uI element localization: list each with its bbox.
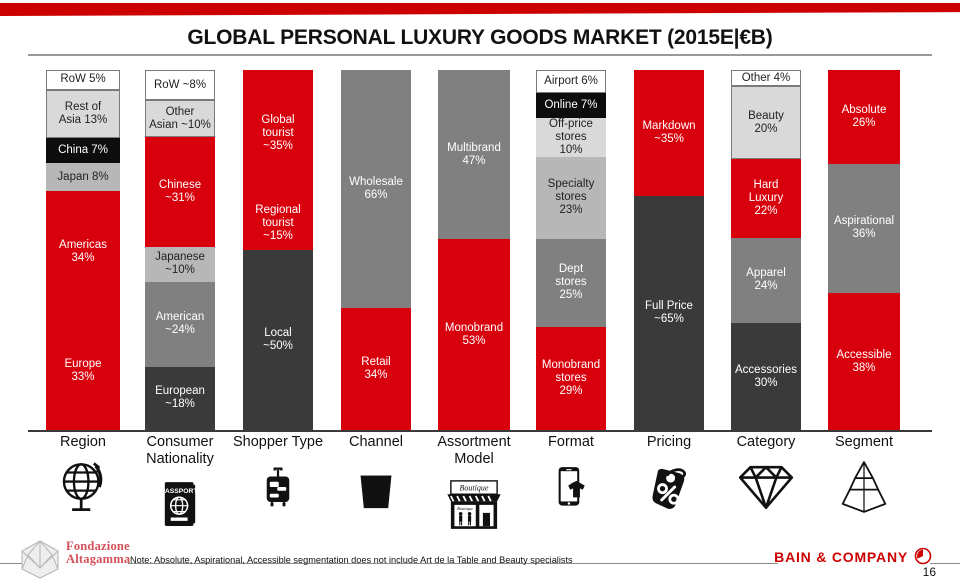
bar-segment-label: Monobrandstores29% — [536, 359, 606, 398]
pyramid-icon — [814, 453, 914, 521]
bar-segment: European~18% — [145, 367, 215, 430]
svg-text:PASSPORT: PASSPORT — [161, 488, 199, 495]
column-label: Channel — [327, 434, 425, 451]
bar-segment-label: Japan 8% — [46, 171, 120, 184]
chart-baseline-axis — [28, 430, 932, 432]
bar-segment-label: HardLuxury22% — [731, 179, 801, 218]
bar-segment: Japan 8% — [46, 163, 120, 191]
bar-segment: Multibrand47% — [438, 70, 510, 239]
stacked-bar: Absolute26%Aspirational36%Accessible38% — [828, 70, 900, 430]
footer-divider-right — [930, 563, 960, 564]
bar-segment-label: Multibrand47% — [438, 142, 510, 168]
svg-text:Boutique: Boutique — [457, 506, 473, 511]
stacked-bar-chart: RoW 5%Rest ofAsia 13%China 7%Japan 8%Ame… — [0, 66, 960, 430]
bar-segment-label: Accessories30% — [731, 364, 801, 390]
bar-segment-label: Off-pricestores10% — [536, 118, 606, 157]
bar-segment-label: Globaltourist~35% — [243, 114, 313, 153]
diamond-icon — [717, 453, 815, 521]
stacked-bar: Markdown~35%Full Price~65% — [634, 70, 704, 430]
bar-segment-label: Online 7% — [536, 99, 606, 112]
column-footer-channel: Channel — [327, 434, 425, 544]
shopping-bag-icon — [327, 453, 425, 521]
bar-segment-label: China 7% — [46, 144, 120, 157]
bar-segment-label: Absolute26% — [828, 104, 900, 130]
bar-segment-label: Airport 6% — [537, 75, 605, 88]
globe-icon — [32, 453, 134, 521]
bar-segment-label: Full Price~65% — [634, 300, 704, 326]
chart-column-format: Airport 6%Online 7%Off-pricestores10%Spe… — [536, 66, 606, 430]
column-label: Format — [522, 434, 620, 451]
bar-segment-label: Beauty20% — [732, 110, 800, 136]
bar-segment-label: Retail34% — [341, 356, 411, 382]
stacked-bar: RoW 5%Rest ofAsia 13%China 7%Japan 8%Ame… — [46, 70, 120, 430]
bar-segment: Rest ofAsia 13% — [46, 90, 120, 138]
altagamma-line2: Altagamma — [66, 553, 130, 566]
top-red-banner — [0, 3, 960, 16]
bar-segment: Wholesale66% — [341, 70, 411, 308]
bar-segment-label: RoW ~8% — [146, 79, 214, 92]
bar-segment: Monobrandstores29% — [536, 327, 606, 430]
bar-segment-label: Wholesale66% — [341, 176, 411, 202]
bar-segment: Aspirational36% — [828, 164, 900, 294]
title-divider — [28, 54, 932, 56]
bar-segment: HardLuxury22% — [731, 159, 801, 237]
bain-wordmark: BAIN & COMPANY — [774, 549, 908, 565]
bar-segment: Full Price~65% — [634, 196, 704, 430]
bar-segment: Chinese~31% — [145, 137, 215, 246]
stacked-bar: Other 4%Beauty20%HardLuxury22%Apparel24%… — [731, 70, 801, 430]
price-tag-percent-icon — [620, 453, 718, 521]
page-number: 16 — [923, 565, 936, 579]
column-label: Pricing — [620, 434, 718, 451]
bar-segment: Beauty20% — [731, 86, 801, 159]
column-label: Shopper Type — [229, 434, 327, 451]
bar-segment: Regionaltourist~15% — [243, 196, 313, 250]
column-footer-segment: Segment — [814, 434, 914, 544]
bar-segment: Off-pricestores10% — [536, 118, 606, 157]
column-footer-consumer-nationality: Consumer Nationality PASSPORT — [131, 434, 229, 544]
chart-column-region: RoW 5%Rest ofAsia 13%China 7%Japan 8%Ame… — [46, 66, 120, 430]
bar-segment-label: Local~50% — [243, 327, 313, 353]
bar-segment: Specialtystores23% — [536, 157, 606, 239]
bar-segment-label: OtherAsian ~10% — [146, 106, 214, 132]
stacked-bar: Airport 6%Online 7%Off-pricestores10%Spe… — [536, 70, 606, 430]
bar-segment: China 7% — [46, 138, 120, 163]
column-footer-format: Format — [522, 434, 620, 544]
bar-segment-label: European~18% — [145, 385, 215, 411]
page-title: GLOBAL PERSONAL LUXURY GOODS MARKET (201… — [0, 26, 960, 50]
bar-segment: Local~50% — [243, 250, 313, 430]
bar-segment: Apparel24% — [731, 238, 801, 323]
bar-segment: Deptstores25% — [536, 239, 606, 328]
chart-column-segment: Absolute26%Aspirational36%Accessible38% — [828, 66, 900, 430]
bar-segment-label: Apparel24% — [731, 267, 801, 293]
bar-segment-label: American~24% — [145, 311, 215, 337]
bar-segment-label: Deptstores25% — [536, 263, 606, 302]
bar-segment: Europe33% — [46, 313, 120, 430]
mobile-apparel-icon — [522, 453, 620, 521]
boutique-storefront-icon: Boutique Boutique — [424, 470, 524, 538]
column-footer-category: Category — [717, 434, 815, 544]
chart-column-consumer-nationality: RoW ~8%OtherAsian ~10%Chinese~31%Japanes… — [145, 66, 215, 430]
bar-segment: American~24% — [145, 282, 215, 367]
stacked-bar: Globaltourist~35%Regionaltourist~15%Loca… — [243, 70, 313, 430]
column-label: Region — [32, 434, 134, 451]
stacked-bar: Multibrand47%Monobrand53% — [438, 70, 510, 430]
column-label: Consumer Nationality — [131, 434, 229, 468]
stacked-bar: RoW ~8%OtherAsian ~10%Chinese~31%Japanes… — [145, 70, 215, 430]
bar-segment: OtherAsian ~10% — [145, 100, 215, 137]
bar-segment: Absolute26% — [828, 70, 900, 164]
bar-segment: Japanese~10% — [145, 247, 215, 282]
chart-column-pricing: Markdown~35%Full Price~65% — [634, 66, 704, 430]
bar-segment-label: Regionaltourist~15% — [243, 204, 313, 243]
stacked-bar: Wholesale66%Retail34% — [341, 70, 411, 430]
bar-segment-label: Aspirational36% — [828, 215, 900, 241]
chart-column-shopper-type: Globaltourist~35%Regionaltourist~15%Loca… — [243, 66, 313, 430]
column-label: Segment — [814, 434, 914, 451]
column-footer-pricing: Pricing — [620, 434, 718, 544]
bar-segment: Markdown~35% — [634, 70, 704, 196]
bar-segment-label: Accessible38% — [828, 349, 900, 375]
chart-column-assortment-model: Multibrand47%Monobrand53% — [438, 66, 510, 430]
bar-segment-label: Europe33% — [46, 358, 120, 384]
bar-segment-label: Other 4% — [732, 72, 800, 85]
bar-segment: RoW 5% — [46, 70, 120, 90]
footnote: Note: Absolute, Aspirational, Accessible… — [130, 555, 573, 565]
bar-segment-label: Markdown~35% — [634, 120, 704, 146]
bar-segment: Airport 6% — [536, 70, 606, 93]
column-footer-shopper-type: Shopper Type — [229, 434, 327, 544]
bar-segment: Retail34% — [341, 308, 411, 430]
bar-segment: Americas34% — [46, 191, 120, 312]
bar-segment: Accessories30% — [731, 323, 801, 430]
column-footer-assortment-model: Assortment Model Boutique Boutique — [424, 434, 524, 544]
bar-segment: RoW ~8% — [145, 70, 215, 100]
bar-segment-label: Americas34% — [46, 239, 120, 265]
bar-segment-label: Japanese~10% — [145, 251, 215, 277]
column-label: Assortment Model — [424, 434, 524, 468]
bar-segment-label: Monobrand53% — [438, 322, 510, 348]
svg-text:Boutique: Boutique — [460, 484, 489, 493]
bar-segment-label: Specialtystores23% — [536, 178, 606, 217]
bar-segment: Other 4% — [731, 70, 801, 86]
suitcase-icon — [229, 453, 327, 521]
bar-segment-label: Chinese~31% — [145, 179, 215, 205]
bain-logo-icon — [914, 547, 932, 565]
passport-icon: PASSPORT — [131, 470, 229, 538]
bar-segment: Accessible38% — [828, 293, 900, 430]
chart-column-category: Other 4%Beauty20%HardLuxury22%Apparel24%… — [731, 66, 801, 430]
chart-column-channel: Wholesale66%Retail34% — [341, 66, 411, 430]
bar-segment: Monobrand53% — [438, 239, 510, 430]
bar-segment-label: RoW 5% — [47, 73, 119, 86]
column-footer-region: Region — [32, 434, 134, 544]
bar-segment: Online 7% — [536, 93, 606, 118]
bar-segment-label: Rest ofAsia 13% — [47, 101, 119, 127]
altagamma-logo-icon — [14, 538, 66, 580]
bar-segment: Globaltourist~35% — [243, 70, 313, 196]
column-label: Category — [717, 434, 815, 451]
